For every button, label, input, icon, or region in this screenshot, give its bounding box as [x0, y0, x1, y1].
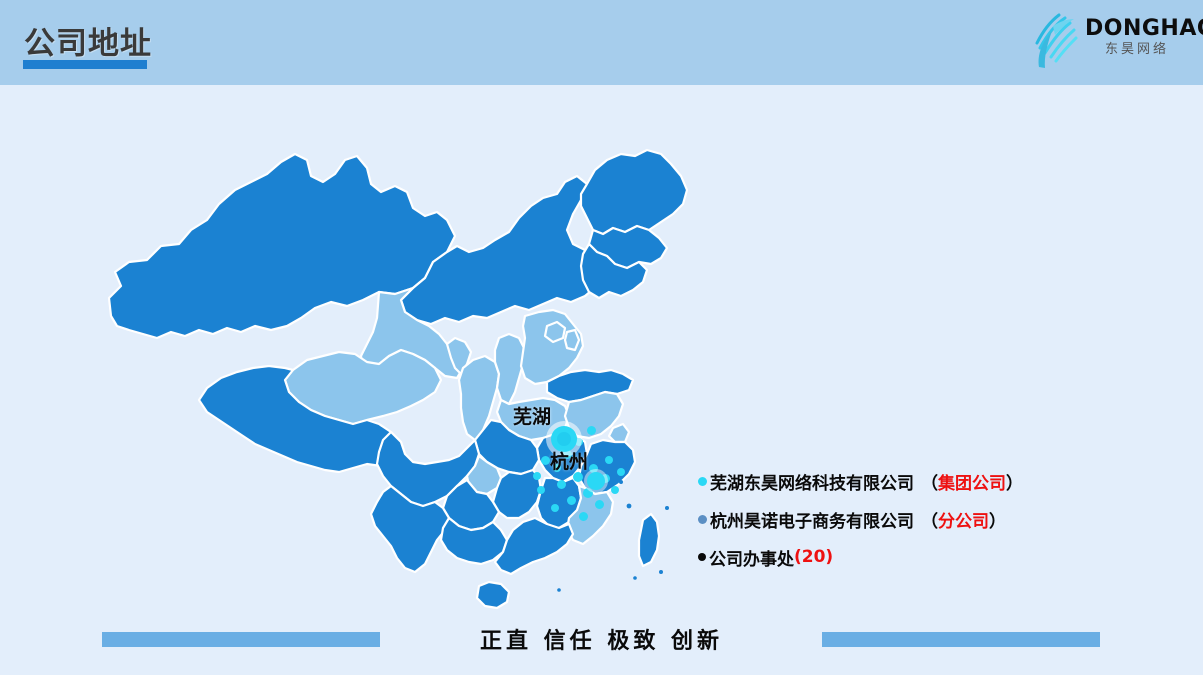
office-dot [579, 512, 588, 521]
title-underline [23, 60, 147, 69]
office-dot [611, 486, 619, 494]
legend-open-paren: （ [921, 507, 938, 532]
region-shanghai [609, 424, 629, 442]
legend-item-label: 公司办事处 [709, 545, 794, 570]
legend-item-label: 芜湖东昊网络科技有限公司 [710, 469, 914, 494]
legend-close-paren: ） [1006, 469, 1023, 494]
office-dot [587, 426, 596, 435]
office-dot [541, 456, 550, 465]
office-dot [583, 488, 593, 498]
region-hainan [477, 582, 509, 608]
feather-wing-icon [1029, 9, 1087, 71]
legend: 芜湖东昊网络科技有限公司 （集团公司） 杭州昊诺电子商务有限公司 （分公司） 公… [698, 462, 1128, 576]
legend-item-headquarters[interactable]: 芜湖东昊网络科技有限公司 （集团公司） [698, 462, 1128, 500]
header-band [0, 0, 1203, 85]
legend-close-paren: ） [989, 507, 1006, 532]
office-dot [551, 504, 559, 512]
legend-tag: 分公司 [938, 507, 989, 532]
legend-bullet-icon [698, 553, 706, 561]
logo-name: DONGHAO [1085, 17, 1189, 40]
legend-bullet-icon [698, 515, 707, 524]
logo-subtitle: 东昊网络 [1085, 42, 1189, 59]
legend-bullet-icon [698, 477, 707, 486]
footer-bar-right [822, 632, 1100, 647]
marker-branch-hangzhou[interactable] [587, 472, 605, 490]
legend-item-offices[interactable]: 公司办事处 (20) [698, 538, 1128, 576]
legend-item-branch[interactable]: 杭州昊诺电子商务有限公司 （分公司） [698, 500, 1128, 538]
legend-open-paren: （ [921, 469, 938, 494]
legend-tag: 集团公司 [938, 469, 1006, 494]
hangzhou-label: 杭州 [550, 447, 588, 474]
legend-office-count: (20) [794, 547, 833, 567]
office-dot [537, 486, 545, 494]
region-beijing [545, 322, 565, 342]
wuhu-label: 芜湖 [513, 402, 551, 429]
region-taiwan [639, 514, 659, 566]
legend-item-label: 杭州昊诺电子商务有限公司 [710, 507, 914, 532]
region-shanxi [495, 334, 525, 404]
office-dot [567, 496, 576, 505]
region-guangdong [495, 518, 573, 574]
office-dot [605, 456, 613, 464]
page-title: 公司地址 [24, 18, 152, 63]
office-dot [617, 468, 625, 476]
office-dot [533, 472, 541, 480]
office-dot [557, 480, 566, 489]
company-logo: DONGHAO 东昊网络 [1029, 7, 1189, 75]
logo-text: DONGHAO 东昊网络 [1085, 17, 1189, 59]
slide-company-address: 公司地址 DONGHAO 东昊网络 [0, 0, 1203, 675]
region-tianjin [565, 330, 579, 350]
office-dot [595, 500, 604, 509]
region-heilongjiang [581, 150, 687, 234]
china-map[interactable] [95, 120, 715, 610]
